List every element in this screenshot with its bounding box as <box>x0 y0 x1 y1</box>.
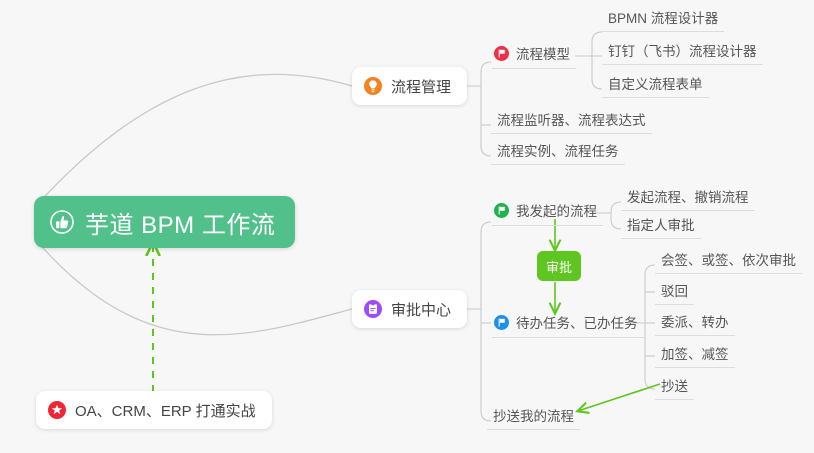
trunk-todo-tasks <box>645 265 655 389</box>
leaf-add-remove-sign[interactable]: 加签、减签 <box>655 344 735 368</box>
arrow-cc-to-cc-my-processes <box>578 384 660 411</box>
annotation-node[interactable]: OA、CRM、ERP 打通实战 <box>36 391 272 429</box>
approval-badge: 审批 <box>537 251 581 281</box>
leaf-label-assigned-approver: 指定人审批 <box>627 214 695 234</box>
node-process-model[interactable]: 流程模型 <box>492 43 576 69</box>
flag-icon <box>494 315 509 330</box>
leaf-delegate-transfer[interactable]: 委派、转办 <box>655 312 735 336</box>
leaf-process-instance[interactable]: 流程实例、流程任务 <box>491 141 625 165</box>
flag-icon <box>494 46 509 61</box>
node-label-process-model: 流程模型 <box>516 43 570 65</box>
leaf-countersign[interactable]: 会签、或签、依次审批 <box>655 250 802 274</box>
leaf-label-dingtalk-designer: 钉钉（飞书）流程设计器 <box>608 40 757 60</box>
mindmap-canvas: 芋道 BPM 工作流 OA、CRM、ERP 打通实战 流程管理 <box>0 0 814 453</box>
lightbulb-icon <box>364 77 382 95</box>
trunk-process-model <box>592 32 602 89</box>
leaf-label-bpmn-designer: BPMN 流程设计器 <box>608 7 718 27</box>
leaf-custom-form[interactable]: 自定义流程表单 <box>602 74 709 98</box>
leaf-assigned-approver[interactable]: 指定人审批 <box>621 215 701 239</box>
leaf-cc-my-processes[interactable]: 抄送我的流程 <box>487 406 580 430</box>
leaf-process-listener[interactable]: 流程监听器、流程表达式 <box>491 110 652 134</box>
leaf-label-delegate-transfer: 委派、转办 <box>661 311 729 331</box>
trunk-my-processes <box>611 202 621 229</box>
branch-label-process-management: 流程管理 <box>391 76 451 97</box>
node-label-my-processes: 我发起的流程 <box>516 200 597 222</box>
leaf-label-cc: 抄送 <box>661 375 688 395</box>
branch-node-approval-center[interactable]: 审批中心 <box>352 290 467 328</box>
annotation-label: OA、CRM、ERP 打通实战 <box>75 400 256 421</box>
node-todo-tasks[interactable]: 待办任务、已办任务 <box>492 312 644 338</box>
trunk-approval-center <box>481 222 491 421</box>
node-label-todo-tasks: 待办任务、已办任务 <box>516 312 638 334</box>
approval-badge-label: 审批 <box>546 257 572 276</box>
branch-label-approval-center: 审批中心 <box>391 299 451 320</box>
root-label: 芋道 BPM 工作流 <box>85 205 275 240</box>
thumbs-up-icon <box>50 210 74 234</box>
star-icon <box>48 401 66 419</box>
leaf-label-start-cancel-process: 发起流程、撤销流程 <box>627 186 749 206</box>
leaf-label-custom-form: 自定义流程表单 <box>608 73 703 93</box>
leaf-start-cancel-process[interactable]: 发起流程、撤销流程 <box>621 187 755 211</box>
leaf-label-cc-my-processes: 抄送我的流程 <box>493 405 574 425</box>
link-root-to-process-management <box>36 74 352 206</box>
leaf-bpmn-designer[interactable]: BPMN 流程设计器 <box>602 8 724 32</box>
root-node[interactable]: 芋道 BPM 工作流 <box>34 196 295 248</box>
leaf-label-reject: 驳回 <box>661 280 688 300</box>
clipboard-icon <box>364 300 382 318</box>
link-root-to-approval-center <box>36 240 352 335</box>
node-my-processes[interactable]: 我发起的流程 <box>492 200 603 226</box>
flag-icon <box>494 203 509 218</box>
leaf-cc[interactable]: 抄送 <box>655 376 694 400</box>
trunk-process-management <box>481 62 491 156</box>
leaf-label-countersign: 会签、或签、依次审批 <box>661 249 796 269</box>
leaf-label-process-instance: 流程实例、流程任务 <box>497 140 619 160</box>
leaf-dingtalk-designer[interactable]: 钉钉（飞书）流程设计器 <box>602 41 763 65</box>
leaf-label-process-listener: 流程监听器、流程表达式 <box>497 109 646 129</box>
leaf-reject[interactable]: 驳回 <box>655 281 694 305</box>
branch-node-process-management[interactable]: 流程管理 <box>352 67 467 105</box>
leaf-label-add-remove-sign: 加签、减签 <box>661 343 729 363</box>
